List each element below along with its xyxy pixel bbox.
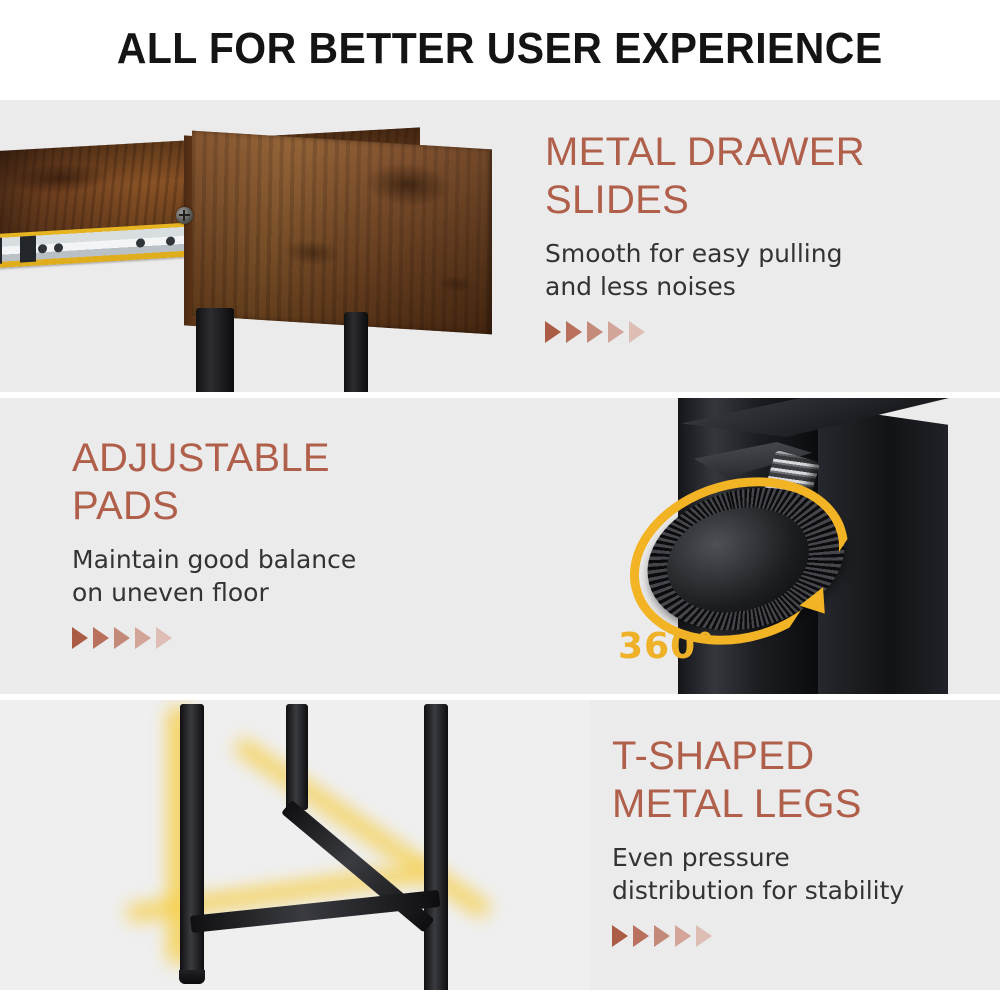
page-header: ALL FOR BETTER USER EXPERIENCE <box>0 0 1000 98</box>
table-leg-shape <box>196 308 234 392</box>
arrow-decoration <box>72 627 522 649</box>
adjustable-pad-photo: 360° <box>590 398 1000 694</box>
chevron-right-icon <box>545 321 561 343</box>
t-shaped-legs-photo <box>0 700 590 990</box>
chevron-right-icon <box>114 627 130 649</box>
drawer-slide-photo <box>0 100 530 392</box>
leg-foot-shape <box>179 970 205 984</box>
feature-panel-t-shaped-metal-legs: T-SHAPED METAL LEGS Even pressure distri… <box>0 700 1000 990</box>
panel-heading: METAL DRAWER SLIDES <box>545 128 985 224</box>
chevron-right-icon <box>675 925 691 947</box>
metal-leg-shape <box>286 704 308 810</box>
metal-leg-shape <box>180 704 204 974</box>
feature-panel-adjustable-pads: ADJUSTABLE PADS Maintain good balance on… <box>0 398 1000 694</box>
arrow-decoration <box>545 321 985 343</box>
feature-panel-metal-drawer-slides: METAL DRAWER SLIDES Smooth for easy pull… <box>0 100 1000 392</box>
chevron-right-icon <box>696 925 712 947</box>
product-feature-infographic: ALL FOR BETTER USER EXPERIENCE <box>0 0 1000 1000</box>
chevron-right-icon <box>93 627 109 649</box>
chevron-right-icon <box>156 627 172 649</box>
chevron-right-icon <box>72 627 88 649</box>
drawer-front-panel-shape <box>192 131 492 335</box>
chevron-right-icon <box>566 321 582 343</box>
panel-body-text: Maintain good balance on uneven floor <box>72 543 522 609</box>
chevron-right-icon <box>608 321 624 343</box>
metal-leg-shape <box>424 704 448 990</box>
adjustable-pads-text-block: ADJUSTABLE PADS Maintain good balance on… <box>72 398 522 694</box>
chevron-right-icon <box>654 925 670 947</box>
panel-heading: ADJUSTABLE PADS <box>72 434 522 530</box>
page-title: ALL FOR BETTER USER EXPERIENCE <box>117 24 883 74</box>
arrow-decoration <box>612 925 992 947</box>
rotation-degree-badge: 360° <box>618 626 715 667</box>
chevron-right-icon <box>629 321 645 343</box>
panel-heading: T-SHAPED METAL LEGS <box>612 732 992 828</box>
table-leg-shape <box>344 312 368 392</box>
t-shaped-legs-text-block: T-SHAPED METAL LEGS Even pressure distri… <box>612 700 992 990</box>
panel-body-text: Smooth for easy pulling and less noises <box>545 237 985 303</box>
chevron-right-icon <box>612 925 628 947</box>
drawer-slide-text-block: METAL DRAWER SLIDES Smooth for easy pull… <box>545 100 985 392</box>
chevron-right-icon <box>587 321 603 343</box>
screw-icon <box>176 207 193 224</box>
chevron-right-icon <box>135 627 151 649</box>
panel-body-text: Even pressure distribution for stability <box>612 841 992 907</box>
chevron-right-icon <box>633 925 649 947</box>
